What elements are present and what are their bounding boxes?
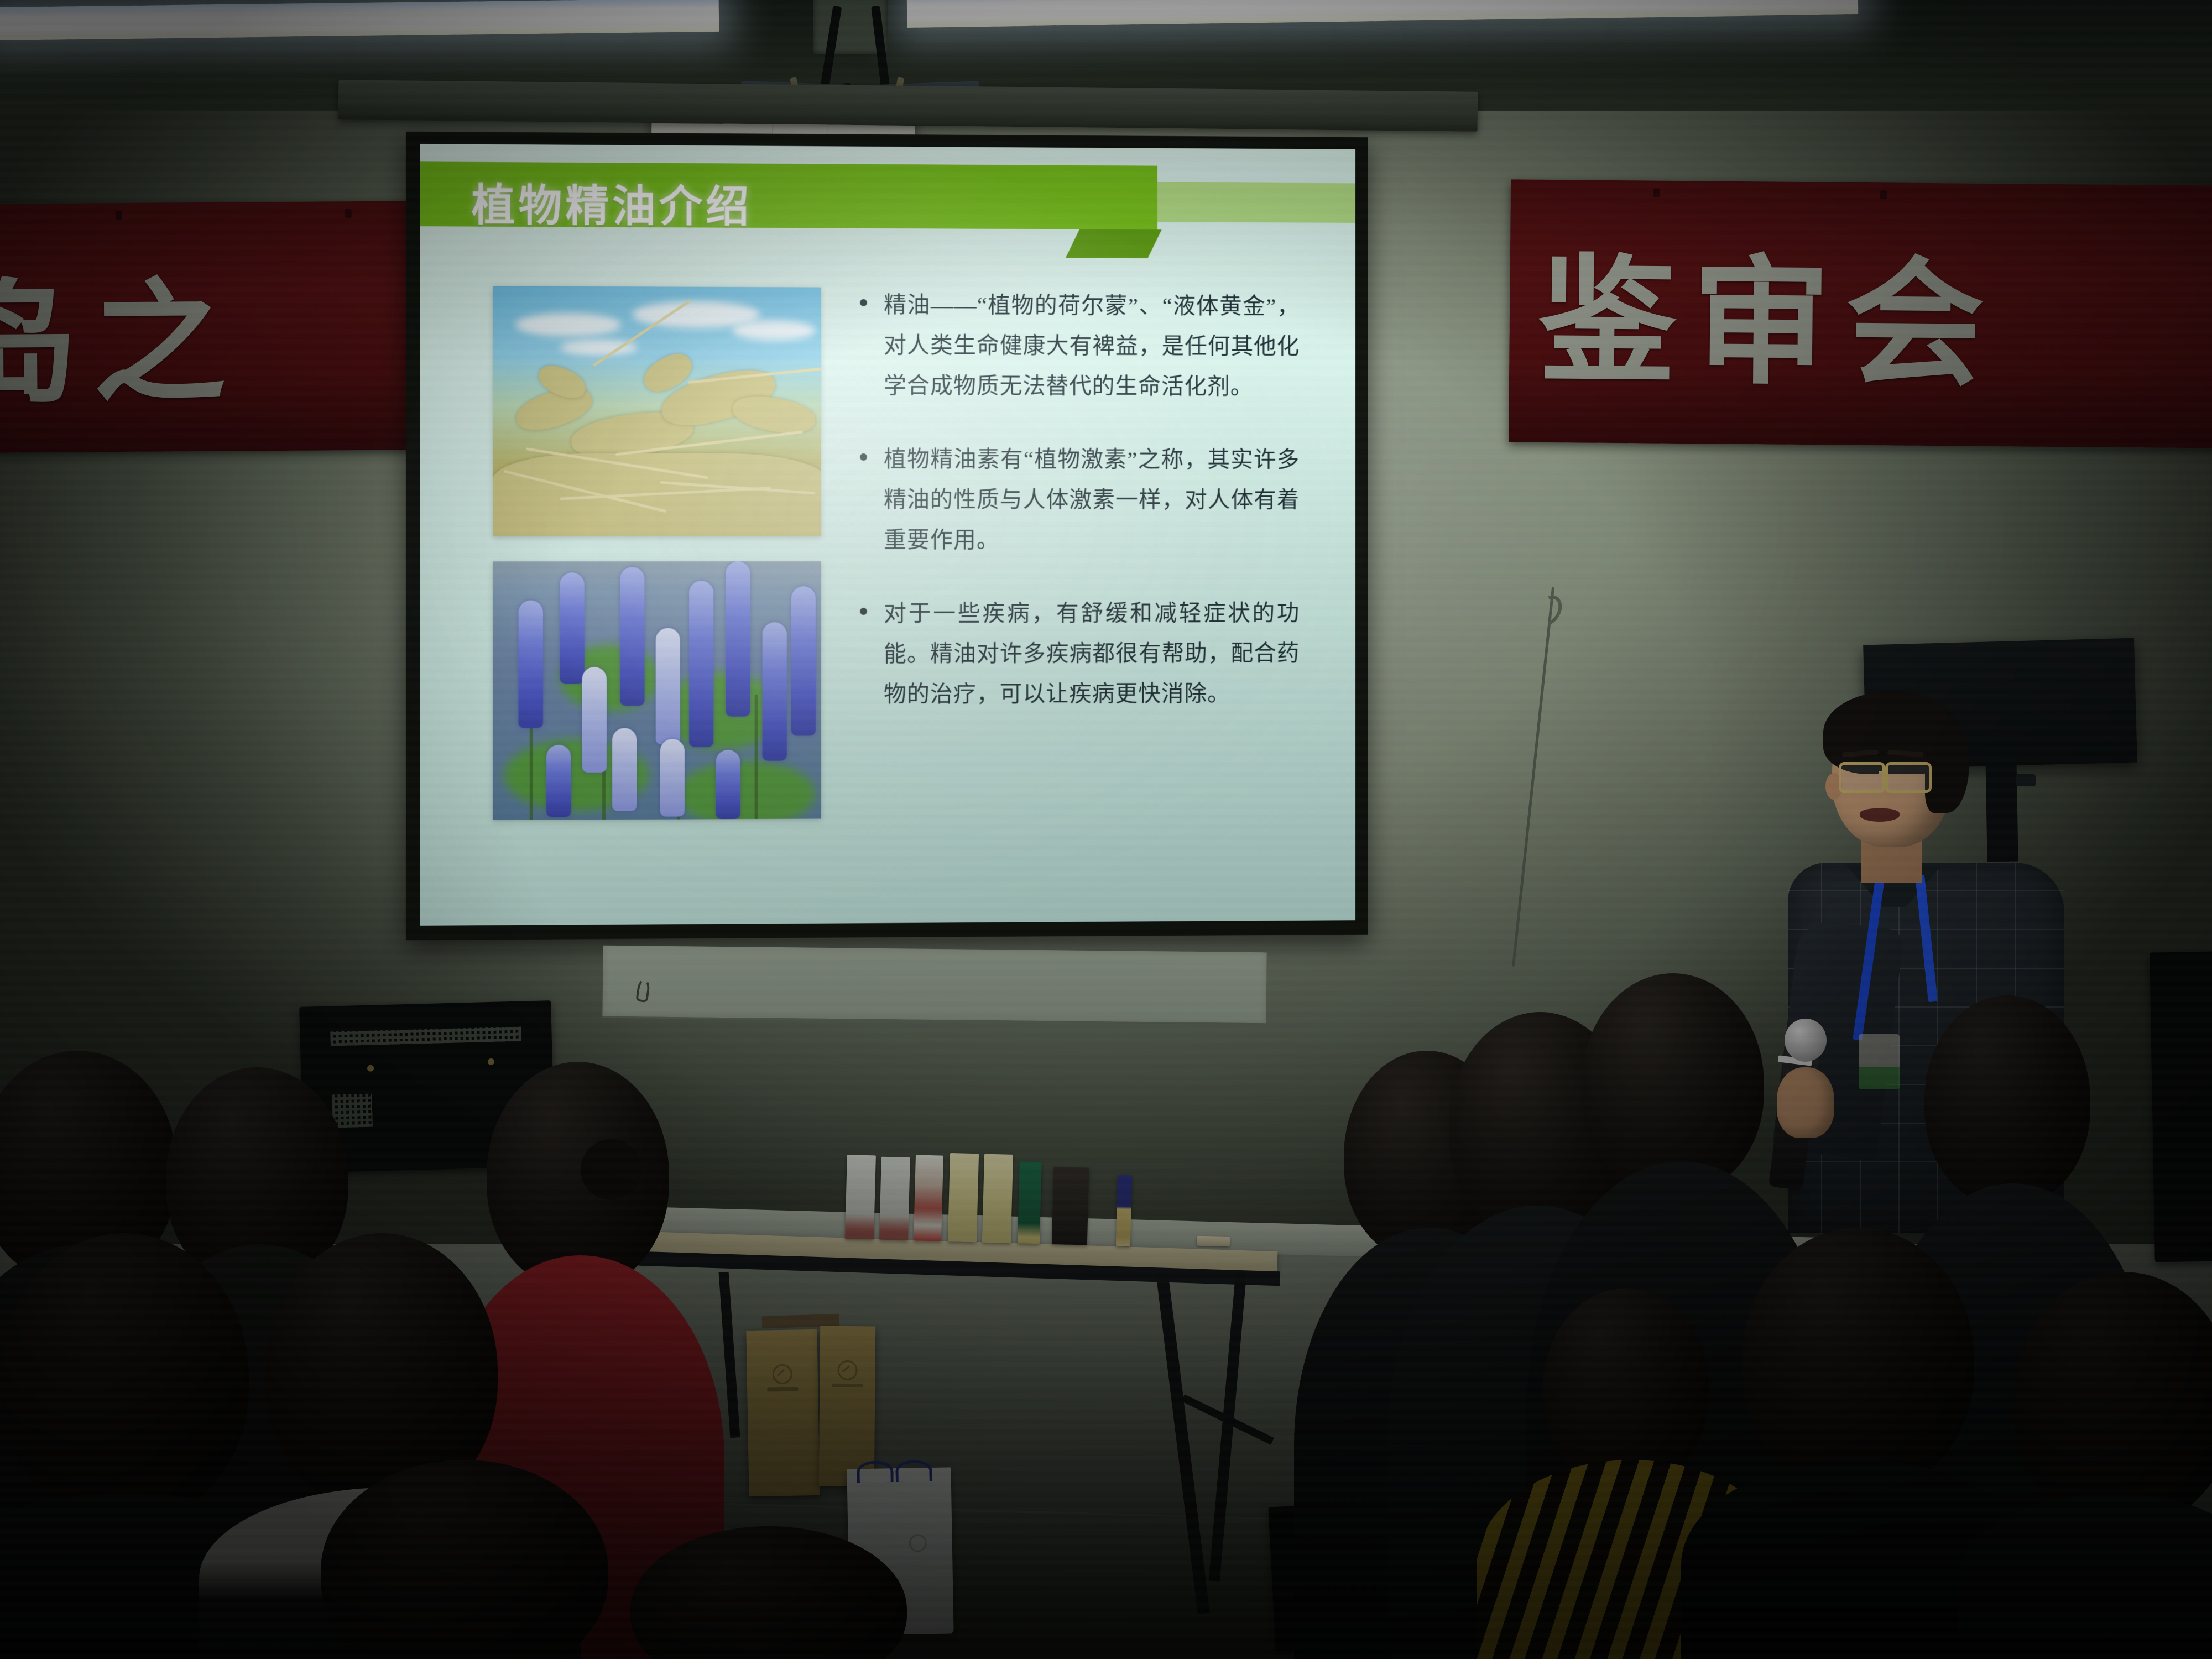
salvia-flower [612,728,637,811]
product-box-3 [914,1155,943,1241]
chair-stud [488,1058,494,1065]
bullet-dot-icon [860,453,867,461]
banner-right-text: 鉴审会 [1537,208,2000,413]
presenter-hand [1777,1067,1834,1138]
eyeglasses-icon [1839,762,1885,793]
product-box-2 [879,1157,910,1240]
product-box-4 [948,1153,979,1242]
salvia-flower [620,567,644,706]
flower-stem [755,695,758,820]
cloud [515,313,621,337]
kraft-gift-bag-1 [746,1329,820,1496]
chair-mesh [330,1027,521,1046]
salvia-flower [791,586,816,735]
product-row [845,1147,1267,1250]
presentation-slide: 植物精油介绍 [420,144,1355,926]
salvia-flower [656,628,680,745]
product-box-6 [1018,1161,1042,1244]
salvia-flower [726,561,750,717]
slide-bullet-text: 精油——“植物的荷尔蒙”、“液体黄金”，对人类生命健康大有裨益，是任何其他化学合… [884,285,1300,406]
bag-handle [895,1460,932,1482]
salvia-flower [546,745,571,817]
bullet-dot-icon [860,608,867,615]
salvia-flower [716,750,740,819]
bullet-dot-icon [860,299,867,306]
slide-bullet-list: 精油——“植物的荷尔蒙”、“液体黄金”，对人类生命健康大有裨益，是任何其他化学合… [860,285,1300,748]
bag-brand-mark [832,1384,863,1387]
banner-hook [345,209,352,218]
slide-bullet-item: 植物精油素有“植物激素”之称，其实许多精油的性质与人体激素一样，对人体有着重要作… [860,439,1300,560]
foliage [677,760,816,820]
salvia-flower [763,622,787,761]
slide-bullet-text: 对于一些疾病，有舒缓和减轻症状的功能。精油对许多疾病都很有帮助，配合药物的治疗，… [884,593,1300,714]
product-box-7 [1052,1167,1089,1245]
product-box-1 [845,1155,876,1239]
slide-ribbon-fold [1066,229,1162,258]
microphone-icon [1785,1019,1827,1062]
salvia-flower [560,572,584,684]
banner-hook [116,211,122,220]
salvia-flower [689,581,713,747]
bag-handle [857,1460,894,1483]
salvia-flower [582,667,607,773]
small-flat-box [1197,1236,1230,1247]
product-box-5 [982,1154,1013,1243]
presenter-badge [1859,1034,1900,1089]
bag-logo-icon [909,1534,927,1552]
red-banner-right: 鉴审会 [1509,179,2212,448]
ginseng-root [730,391,818,439]
product-vial-8 [1116,1175,1132,1246]
presenter-hair [1925,713,1969,813]
banner-hook [1880,190,1887,199]
salvia-flower [519,601,543,728]
eyeglasses-icon [1885,762,1932,793]
chair-stud [367,1065,374,1072]
slide-title: 植物精油介绍 [472,171,753,234]
salvia-flower [660,739,685,817]
chair-mesh [332,1094,373,1128]
seminar-room-photo: 岛之 鉴审会 植物精油介绍 [0,0,2212,1659]
banner-hook [1653,189,1660,197]
mesh-chair-back-right [2150,950,2212,1262]
slide-bullet-text: 植物精油素有“植物激素”之称，其实许多精油的性质与人体激素一样，对人体有着重要作… [884,439,1300,560]
projection-screen-frame: 植物精油介绍 [406,132,1368,940]
slide-image-ginseng [493,286,821,536]
slide-image-salvia [493,561,821,820]
bag-brand-mark [767,1387,798,1392]
red-banner-left: 岛之 [0,201,421,453]
cloud [732,320,815,341]
bag-logo-icon [837,1360,857,1380]
bag-logo-icon [772,1364,792,1385]
slide-bullet-item: 对于一些疾病，有舒缓和减轻症状的功能。精油对许多疾病都很有帮助，配合药物的治疗，… [860,593,1300,714]
presenter-mouth [1860,808,1900,822]
eyeglasses-bridge [1879,771,1887,774]
wall-whiteboard-panel [602,946,1266,1025]
slide-bullet-item: 精油——“植物的荷尔蒙”、“液体黄金”，对人类生命健康大有裨益，是任何其他化学合… [860,285,1300,407]
banner-left-text: 岛之 [0,235,242,429]
